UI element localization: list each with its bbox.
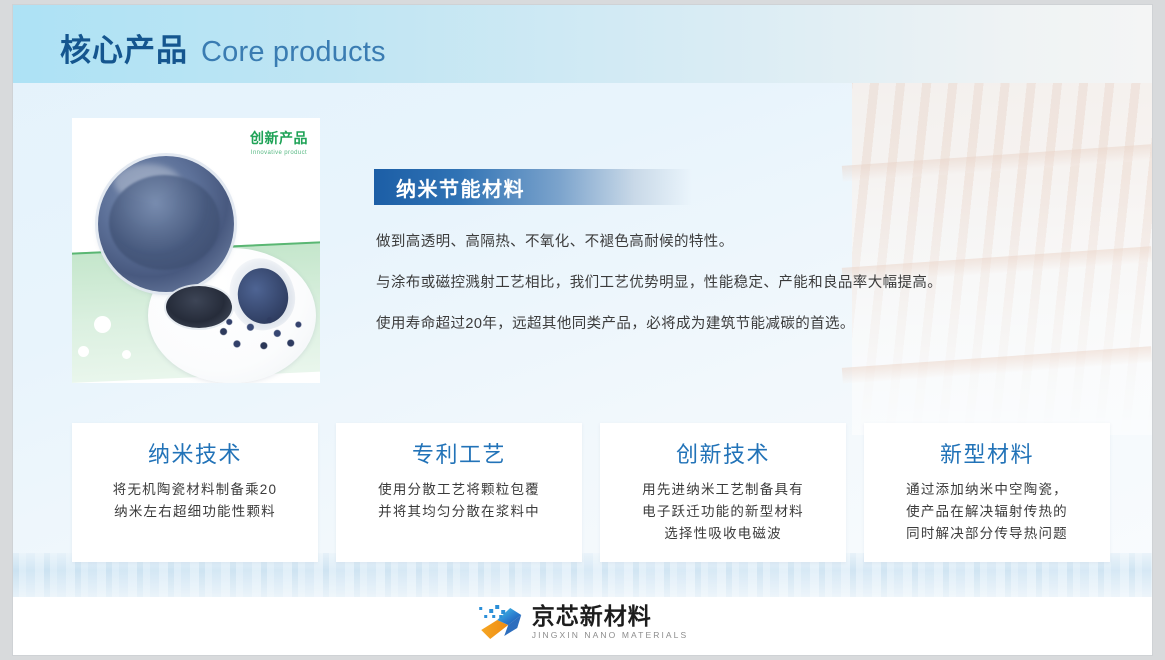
building-cornice xyxy=(842,144,1152,182)
photo-bubble xyxy=(122,350,131,359)
product-photo: 创新产品 Innovative product xyxy=(72,118,320,383)
feature-card-line: 将无机陶瓷材料制备乘20 xyxy=(86,479,304,501)
feature-card[interactable]: 创新技术 用先进纳米工艺制备具有 电子跃迁功能的新型材料 选择性吸收电磁波 xyxy=(600,423,846,562)
page-title-cn: 核心产品 xyxy=(60,25,188,70)
feature-card[interactable]: 新型材料 通过添加纳米中空陶瓷， 使产品在解决辐射传热的 同时解决部分传导热问题 xyxy=(864,423,1110,562)
feature-card-line: 使产品在解决辐射传热的 xyxy=(878,501,1096,523)
feature-card-title: 纳米技术 xyxy=(86,437,304,469)
photo-pellets-spill xyxy=(212,314,308,358)
photo-bubble xyxy=(78,346,89,357)
page-title-en: Core products xyxy=(201,36,386,69)
feature-card-line: 同时解决部分传导热问题 xyxy=(878,523,1096,545)
brand-name-en: JINGXIN NANO MATERIALS xyxy=(532,630,689,640)
section-paragraph: 使用寿命超过20年，远超其他同类产品，必将成为建筑节能减碳的首选。 xyxy=(376,315,1036,334)
feature-card-body: 用先进纳米工艺制备具有 电子跃迁功能的新型材料 选择性吸收电磁波 xyxy=(614,479,832,545)
product-photo-label: 创新产品 Innovative product xyxy=(250,128,308,156)
feature-card-line: 用先进纳米工艺制备具有 xyxy=(614,479,832,501)
photo-powder-dish xyxy=(98,156,234,292)
feature-card-line: 使用分散工艺将颗粒包覆 xyxy=(350,479,568,501)
feature-card-line: 并将其均匀分散在浆料中 xyxy=(350,501,568,523)
photo-dish-highlight xyxy=(114,164,179,199)
feature-card-line: 通过添加纳米中空陶瓷， xyxy=(878,479,1096,501)
photo-bubble xyxy=(94,316,111,333)
feature-card[interactable]: 纳米技术 将无机陶瓷材料制备乘20 纳米左右超细功能性颗料 xyxy=(72,423,318,562)
section-body: 做到高透明、高隔热、不氧化、不褪色高耐候的特性。 与涂布或磁控溅射工艺相比，我们… xyxy=(376,233,1036,356)
brand-name-cn: 京芯新材料 xyxy=(532,604,689,628)
feature-card-title: 专利工艺 xyxy=(350,437,568,469)
brand-logo-text: 京芯新材料 JINGXIN NANO MATERIALS xyxy=(532,604,689,640)
section-paragraph: 与涂布或磁控溅射工艺相比，我们工艺优势明显，性能稳定、产能和良品率大幅提高。 xyxy=(376,274,1036,293)
section-title-bar: 纳米节能材料 xyxy=(374,169,692,205)
section-paragraph: 做到高透明、高隔热、不氧化、不褪色高耐候的特性。 xyxy=(376,233,1036,252)
feature-card-line: 纳米左右超细功能性颗料 xyxy=(86,501,304,523)
feature-card-list: 纳米技术 将无机陶瓷材料制备乘20 纳米左右超细功能性颗料 专利工艺 使用分散工… xyxy=(72,423,1110,562)
feature-card-title: 新型材料 xyxy=(878,437,1096,469)
feature-card-line: 电子跃迁功能的新型材料 xyxy=(614,501,832,523)
slide-canvas: 核心产品 Core products 创新产品 Innovative produ… xyxy=(13,5,1152,655)
product-label-cn: 创新产品 xyxy=(250,128,308,148)
feature-card[interactable]: 专利工艺 使用分散工艺将颗粒包覆 并将其均匀分散在浆料中 xyxy=(336,423,582,562)
section-title-text: 纳米节能材料 xyxy=(396,173,525,202)
feature-card-body: 使用分散工艺将颗粒包覆 并将其均匀分散在浆料中 xyxy=(350,479,568,523)
page-title: 核心产品 Core products xyxy=(60,25,386,70)
feature-card-body: 通过添加纳米中空陶瓷， 使产品在解决辐射传热的 同时解决部分传导热问题 xyxy=(878,479,1096,545)
feature-card-line: 选择性吸收电磁波 xyxy=(614,523,832,545)
footer-logo: 京芯新材料 JINGXIN NANO MATERIALS xyxy=(477,603,689,641)
product-label-en: Innovative product xyxy=(250,150,308,156)
brand-logo-icon xyxy=(477,603,523,641)
feature-card-title: 创新技术 xyxy=(614,437,832,469)
feature-card-body: 将无机陶瓷材料制备乘20 纳米左右超细功能性颗料 xyxy=(86,479,304,523)
header-band: 核心产品 Core products xyxy=(13,5,1152,83)
